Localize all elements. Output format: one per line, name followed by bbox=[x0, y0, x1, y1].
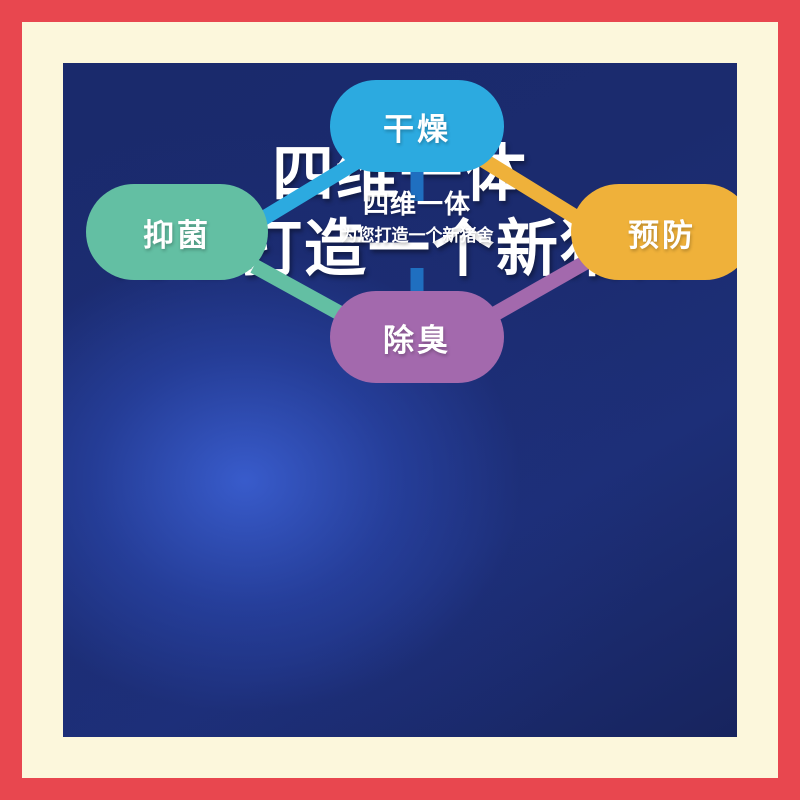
connector-top-to-right bbox=[475, 155, 587, 224]
diagram-node-prevention[interactable]: 预防 bbox=[571, 184, 737, 280]
diagram-node-antibacterial[interactable]: 抑菌 bbox=[86, 184, 268, 280]
connector-left-to-top bbox=[259, 158, 363, 221]
diagram-node-deodorize-label: 除臭 bbox=[383, 315, 451, 360]
diagram-node-antibacterial-label: 抑菌 bbox=[143, 210, 211, 255]
diagram-node-dry[interactable]: 干燥 bbox=[330, 80, 504, 172]
four-in-one-diagram: 干燥 抑菌 预防 除臭 四维一体 为您打造一个新猪舍 bbox=[63, 63, 737, 737]
diagram-node-dry-label: 干燥 bbox=[383, 104, 451, 149]
poster-canvas: 四维一体 为您打造一个新猪舍 bbox=[0, 0, 800, 800]
diagram-node-prevention-label: 预防 bbox=[628, 210, 696, 255]
poster-inner-frame: 四维一体 为您打造一个新猪舍 bbox=[22, 22, 778, 778]
diagram-node-deodorize[interactable]: 除臭 bbox=[330, 291, 504, 383]
poster-stage: 四维一体 为您打造一个新猪舍 bbox=[63, 63, 737, 737]
